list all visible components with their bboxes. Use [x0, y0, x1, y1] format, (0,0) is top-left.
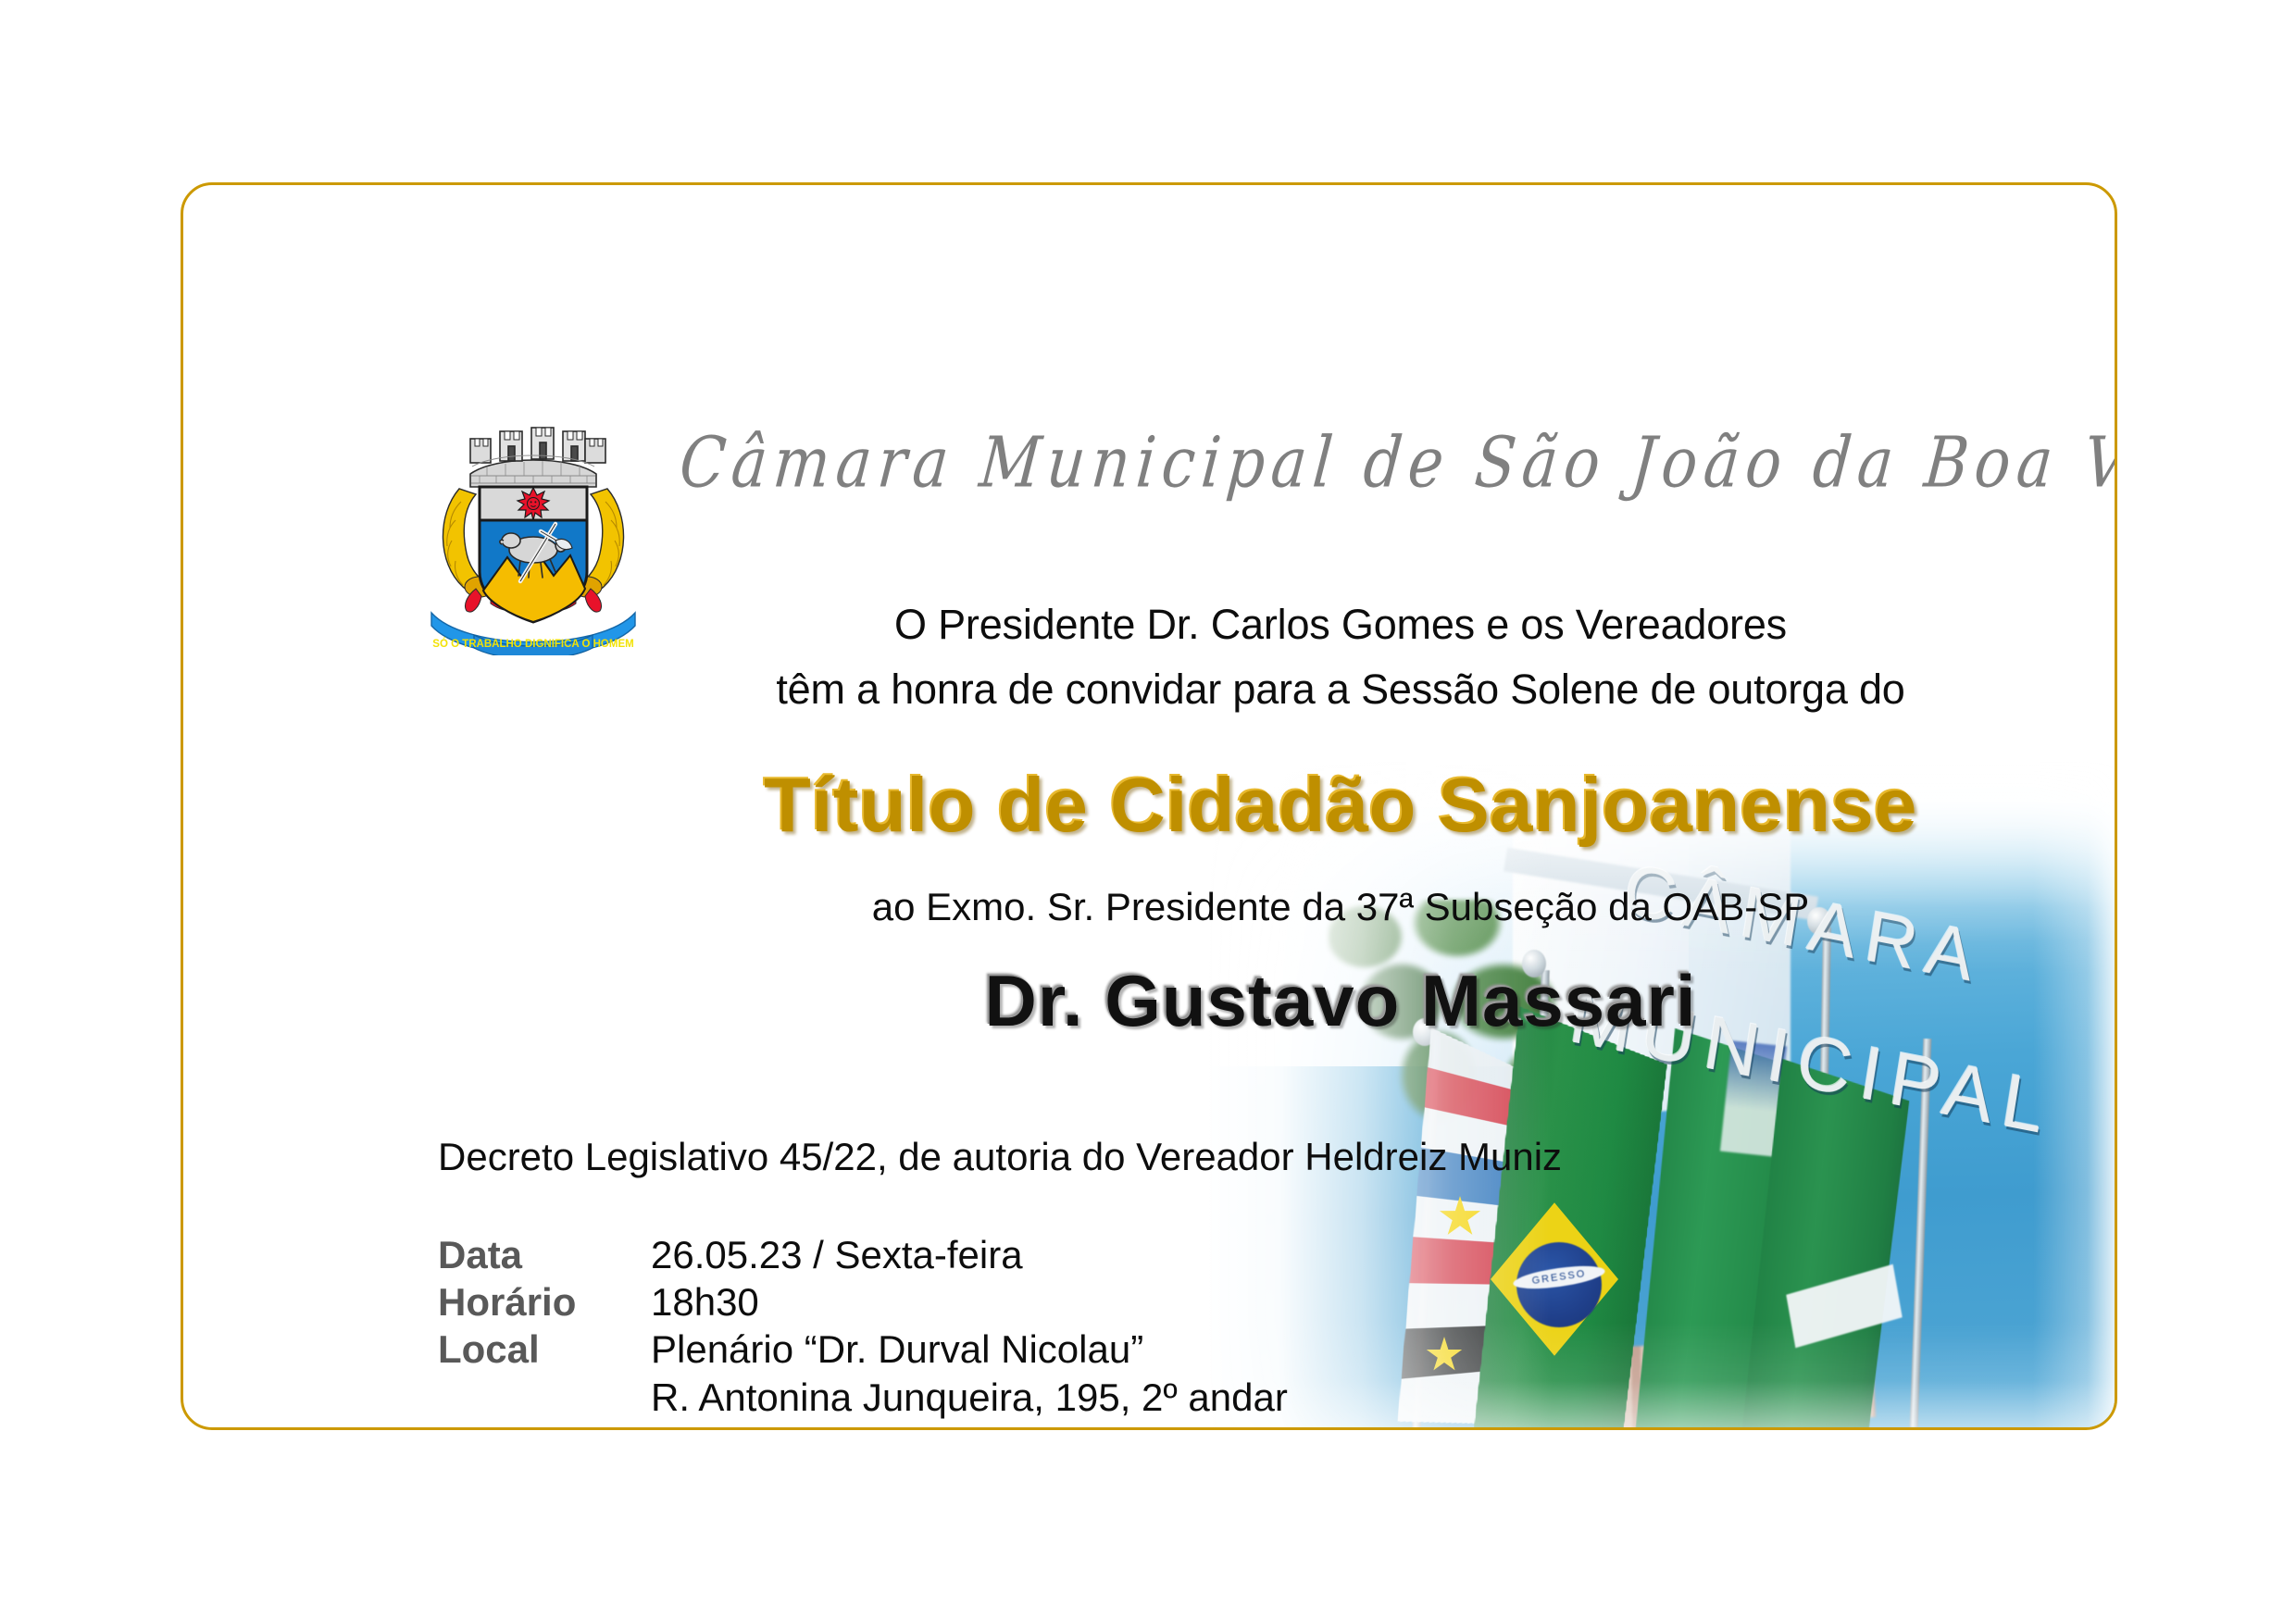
detail-label-data: Data	[438, 1231, 651, 1278]
photo-image: GRESSO CÂMARA MUNICIPAL	[1207, 761, 2115, 1427]
detail-row-address-1: R. Antonina Junqueira, 195, 2º andar	[438, 1374, 1288, 1421]
detail-label-horario: Horário	[438, 1278, 651, 1326]
detail-row-data: Data 26.05.23 / Sexta-feira	[438, 1231, 1288, 1278]
detail-value-horario: 18h30	[651, 1278, 759, 1326]
decree-line: Decreto Legislativo 45/22, de autoria do…	[438, 1135, 1562, 1179]
detail-address-line-2: Centro, São João da Boa Vista – SP	[651, 1421, 1279, 1430]
detail-row-local: Local Plenário “Dr. Durval Nicolau”	[438, 1326, 1288, 1373]
invitation-frame: GRESSO CÂMARA MUNICIPAL	[181, 182, 2117, 1430]
flag-pole-4	[1910, 1039, 1932, 1427]
flag-brazil-diamond	[1485, 1196, 1624, 1363]
camara-building-photo: GRESSO CÂMARA MUNICIPAL	[1207, 761, 2115, 1427]
invitation-page: GRESSO CÂMARA MUNICIPAL	[0, 0, 2296, 1618]
detail-address-line-1: R. Antonina Junqueira, 195, 2º andar	[651, 1374, 1288, 1421]
event-details: Data 26.05.23 / Sexta-feira Horário 18h3…	[438, 1231, 1288, 1430]
honoree-subtitle: ao Exmo. Sr. Presidente da 37ª Subseção …	[628, 885, 2053, 929]
invitation-intro: O Presidente Dr. Carlos Gomes e os Verea…	[628, 592, 2053, 722]
detail-value-data: 26.05.23 / Sexta-feira	[651, 1231, 1023, 1278]
flag-pole-1	[1411, 1035, 1441, 1427]
flag-municipal-1-detail	[1720, 1040, 1787, 1157]
photo-fade-vignette	[1207, 761, 2115, 1427]
flag-sao-paulo-star-1	[1439, 1196, 1481, 1238]
award-title: Título de Cidadão Sanjoanense	[489, 761, 2117, 850]
organization-script-title: Câmara Municipal de São João da Boa Vist…	[677, 428, 2117, 501]
flag-brazil	[1472, 1002, 1668, 1427]
intro-line-2: têm a honra de convidar para a Sessão So…	[628, 657, 2053, 722]
crest-motto-text: SÓ O TRABALHO DIGNIFICA O HOMEM	[432, 638, 633, 650]
coat-of-arms-icon: SÓ O TRABALHO DIGNIFICA O HOMEM	[422, 405, 644, 655]
flag-municipal-2-stripe	[1786, 1264, 1902, 1349]
detail-row-address-2: Centro, São João da Boa Vista – SP	[438, 1421, 1288, 1430]
detail-label-local: Local	[438, 1326, 651, 1373]
flag-sao-paulo	[1396, 1026, 1523, 1427]
honoree-name: Dr. Gustavo Massari	[628, 959, 2053, 1043]
flag-brazil-motto-band: GRESSO	[1512, 1262, 1606, 1293]
flag-brazil-globe	[1516, 1242, 1602, 1327]
flag-sao-paulo-star-2	[1426, 1337, 1463, 1374]
intro-line-1: O Presidente Dr. Carlos Gomes e os Verea…	[628, 592, 2053, 657]
detail-row-horario: Horário 18h30	[438, 1278, 1288, 1326]
detail-value-local: Plenário “Dr. Durval Nicolau”	[651, 1326, 1143, 1373]
photo-roof-tiles	[1483, 1334, 1876, 1427]
flag-municipal-2	[1741, 1054, 1910, 1427]
flag-municipal-1	[1634, 1024, 1816, 1427]
